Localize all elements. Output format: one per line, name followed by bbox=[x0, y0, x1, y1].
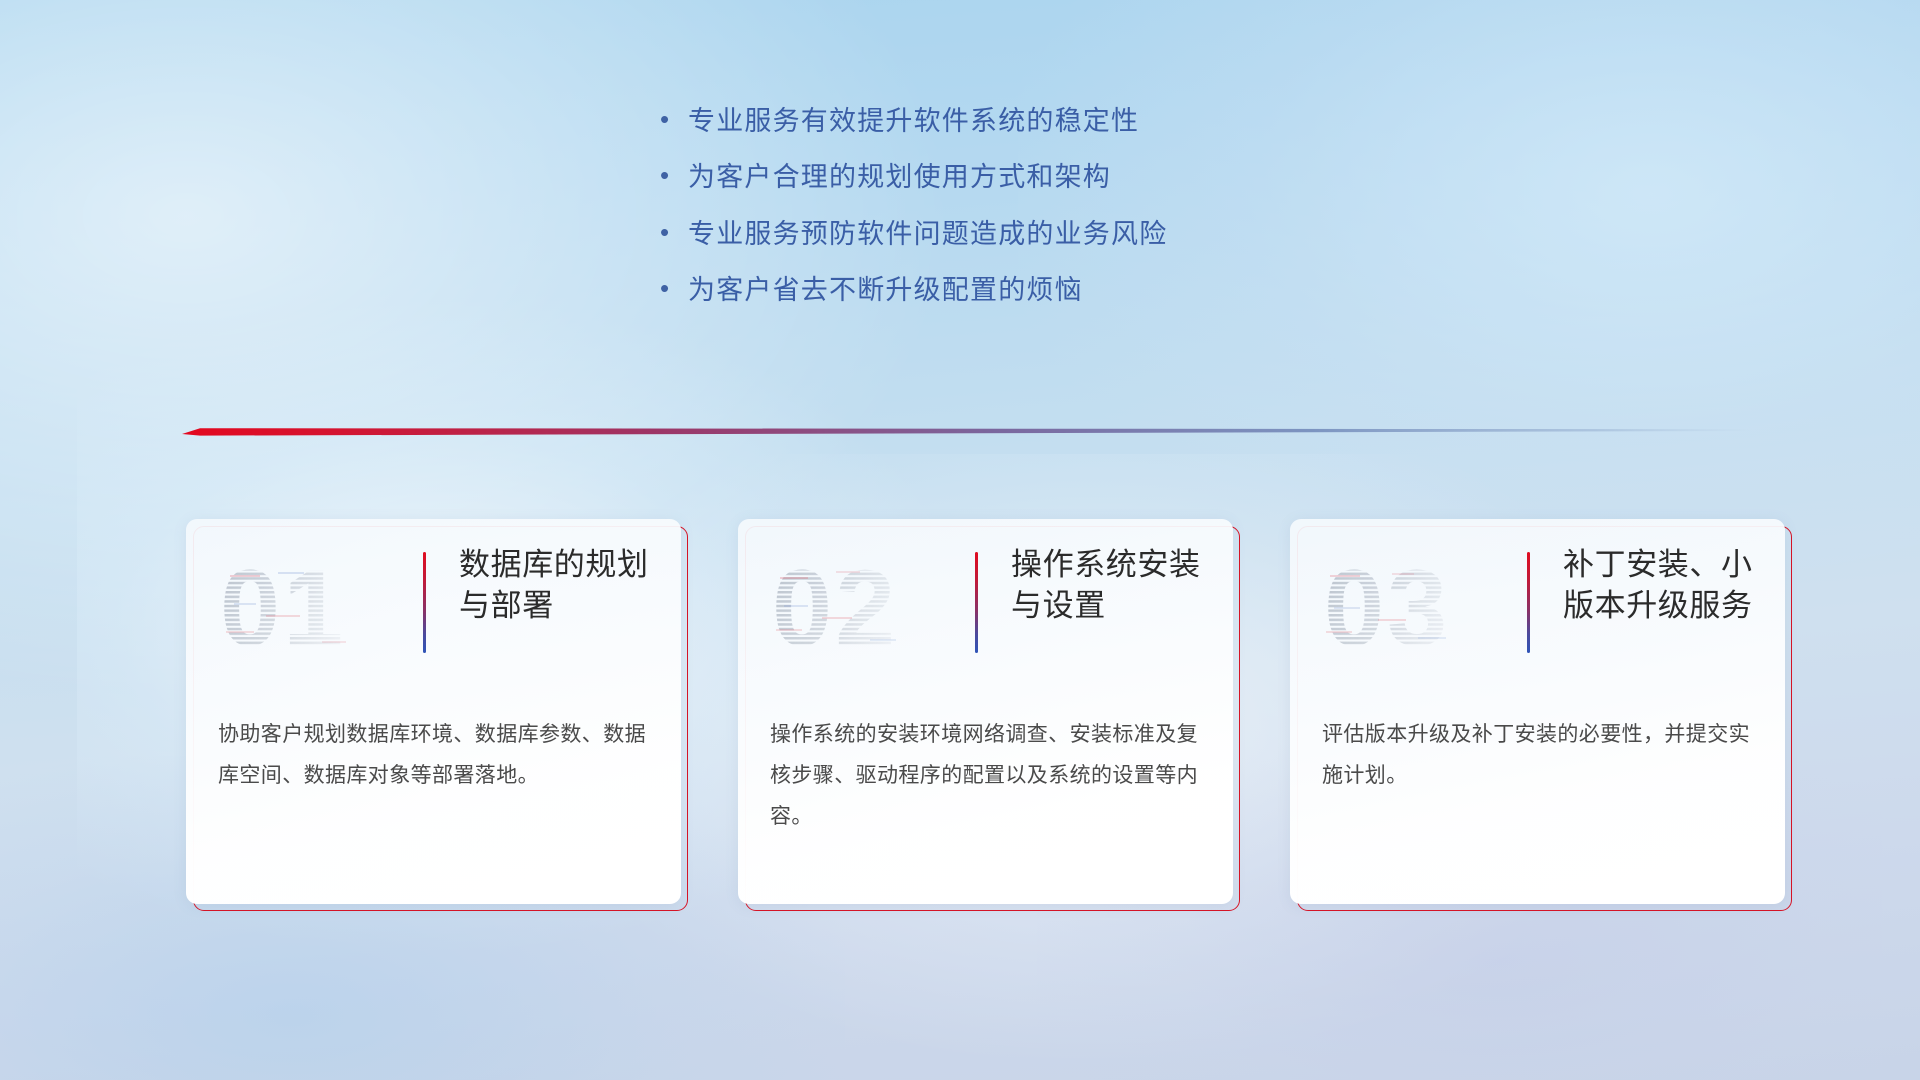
card-number-watermark-01: 01 bbox=[218, 545, 378, 663]
bullet-text: 专业服务预防软件问题造成的业务风险 bbox=[688, 218, 1167, 250]
card-title: 操作系统安装与设置 bbox=[1011, 545, 1216, 627]
section-divider bbox=[182, 424, 1752, 438]
card-number-watermark-02: 02 bbox=[770, 545, 930, 663]
bullet-text: 专业服务有效提升软件系统的稳定性 bbox=[688, 105, 1139, 137]
service-card-03[interactable]: 03 补丁安装、小版本升级服务 评估版本升 bbox=[1290, 519, 1785, 904]
list-item: • 专业服务预防软件问题造成的业务风险 bbox=[660, 218, 1167, 250]
bullet-dot-icon: • bbox=[660, 162, 688, 188]
card-body-text: 操作系统的安装环境网络调查、安装标准及复核步骤、驱动程序的配置以及系统的设置等内… bbox=[770, 715, 1202, 838]
svg-text:03: 03 bbox=[1324, 547, 1450, 663]
card-body-text: 评估版本升级及补丁安装的必要性，并提交实施计划。 bbox=[1322, 715, 1754, 797]
card-title: 补丁安装、小版本升级服务 bbox=[1563, 545, 1768, 627]
card-accent-bar bbox=[423, 552, 426, 653]
card-number-watermark-03: 03 bbox=[1322, 545, 1482, 663]
bullet-dot-icon: • bbox=[660, 106, 688, 132]
service-card-02[interactable]: 02 操作系统安装与设置 操作系统的安装环 bbox=[738, 519, 1233, 904]
list-item: • 为客户省去不断升级配置的烦恼 bbox=[660, 274, 1167, 306]
card-title: 数据库的规划与部署 bbox=[459, 545, 664, 627]
card-header: 03 补丁安装、小版本升级服务 bbox=[1290, 519, 1785, 687]
bullet-dot-icon: • bbox=[660, 219, 688, 245]
card-accent-bar bbox=[1527, 552, 1530, 653]
list-item: • 专业服务有效提升软件系统的稳定性 bbox=[660, 105, 1167, 137]
bullet-text: 为客户合理的规划使用方式和架构 bbox=[688, 161, 1111, 193]
card-accent-bar bbox=[975, 552, 978, 653]
card-header: 02 操作系统安装与设置 bbox=[738, 519, 1233, 687]
list-item: • 为客户合理的规划使用方式和架构 bbox=[660, 161, 1167, 193]
service-cards-row: 01 数据库的规划与部署 协助客户规划数据 bbox=[186, 519, 1785, 904]
card-header: 01 数据库的规划与部署 bbox=[186, 519, 681, 687]
service-card-01[interactable]: 01 数据库的规划与部署 协助客户规划数据 bbox=[186, 519, 681, 904]
benefits-bullet-list: • 专业服务有效提升软件系统的稳定性 • 为客户合理的规划使用方式和架构 • 专… bbox=[660, 105, 1167, 331]
bullet-dot-icon: • bbox=[660, 275, 688, 301]
bullet-text: 为客户省去不断升级配置的烦恼 bbox=[688, 274, 1083, 306]
card-body-text: 协助客户规划数据库环境、数据库参数、数据库空间、数据库对象等部署落地。 bbox=[218, 715, 650, 797]
